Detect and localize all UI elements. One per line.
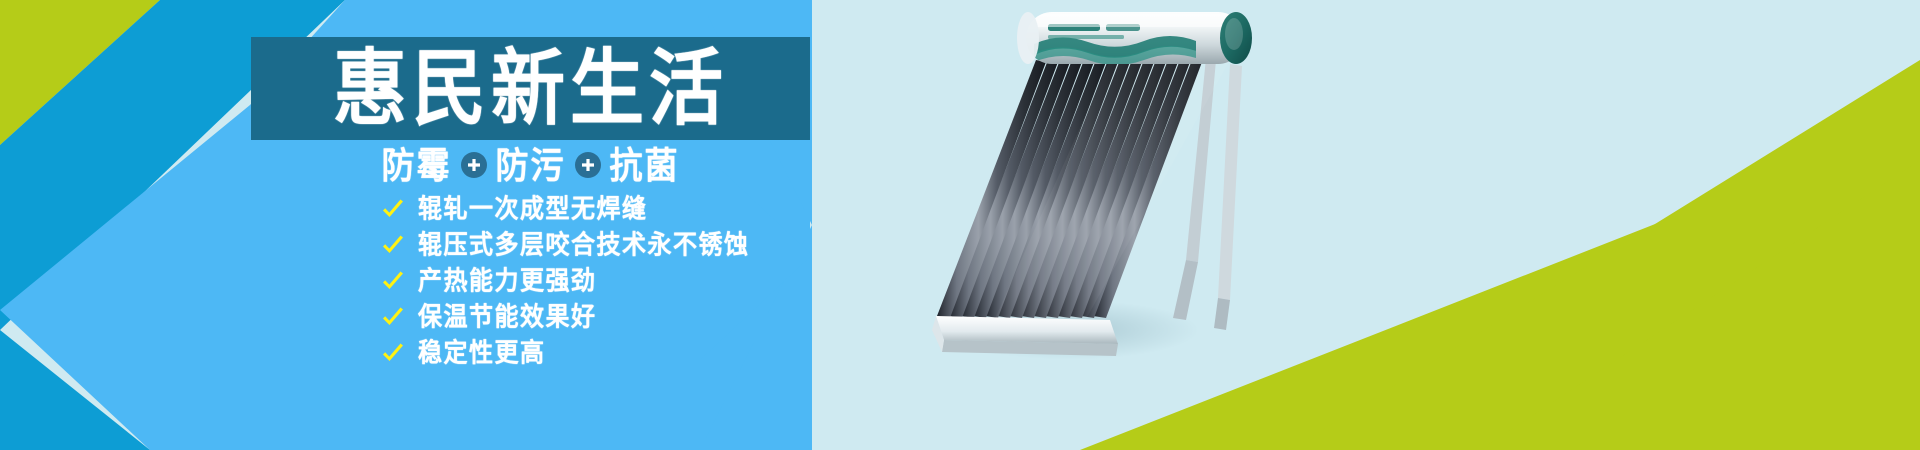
list-item: 辊轧一次成型无焊缝 [380, 194, 820, 225]
promo-banner: 惠民新生活 防霉 防污 抗菌 辊轧一次成型无焊缝 辊压式多层咬合技术永不锈蚀 [0, 0, 1920, 450]
list-item: 稳定性更高 [380, 338, 820, 369]
feature-list: 辊轧一次成型无焊缝 辊压式多层咬合技术永不锈蚀 产热能力更强劲 保温节能效果好 [380, 194, 820, 374]
list-item: 辊压式多层咬合技术永不锈蚀 [380, 230, 820, 261]
subtitle-word-2: 防污 [496, 147, 566, 183]
subtitle-word-1: 防霉 [382, 147, 452, 183]
check-icon [380, 341, 405, 366]
plus-badge-icon-2 [575, 152, 601, 178]
list-item: 产热能力更强劲 [380, 266, 820, 297]
feature-label: 产热能力更强劲 [418, 269, 597, 295]
product-image-solar-water-heater [930, 0, 1350, 380]
list-item: 保温节能效果好 [380, 302, 820, 333]
feature-label: 辊压式多层咬合技术永不锈蚀 [418, 233, 750, 259]
check-icon [380, 305, 405, 330]
page-title: 惠民新生活 [333, 47, 728, 130]
feature-label: 稳定性更高 [418, 341, 546, 367]
heater-tank [1017, 12, 1252, 65]
heater-base-frame [932, 316, 1118, 356]
check-icon [380, 269, 405, 294]
subtitle-row: 防霉 防污 抗菌 [251, 142, 810, 188]
title-box: 惠民新生活 [251, 37, 810, 140]
heater-front-post [1214, 64, 1242, 330]
check-icon [380, 197, 405, 222]
plus-badge-icon [461, 152, 487, 178]
subtitle-word-3: 抗菌 [610, 147, 680, 183]
feature-label: 保温节能效果好 [418, 305, 597, 331]
check-icon [380, 233, 405, 258]
feature-label: 辊轧一次成型无焊缝 [418, 197, 648, 223]
